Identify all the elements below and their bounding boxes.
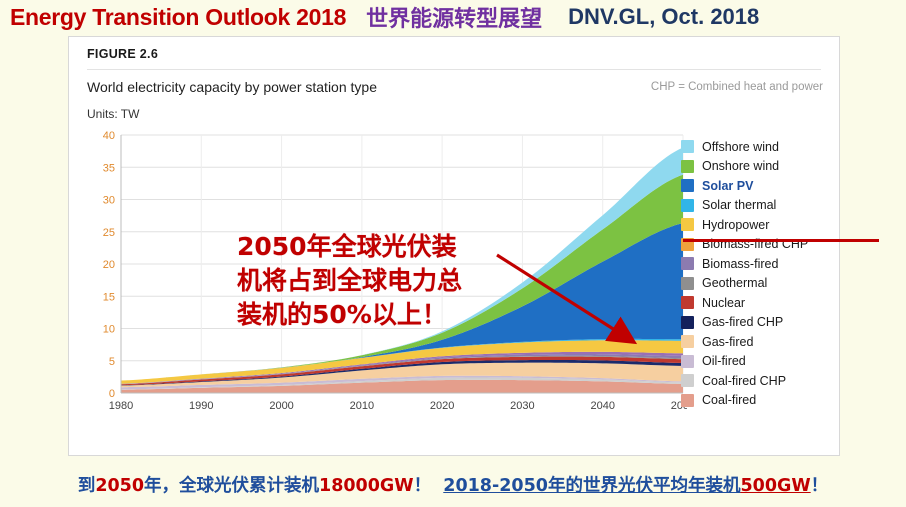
footer-part-9: ！ (811, 476, 829, 496)
svg-text:1980: 1980 (109, 400, 133, 412)
legend-swatch-icon (681, 355, 694, 368)
legend-swatch-icon (681, 218, 694, 231)
legend-swatch-icon (681, 335, 694, 348)
legend-highlight-underline (683, 239, 879, 242)
legend-swatch-icon (681, 374, 694, 387)
svg-text:30: 30 (103, 195, 115, 207)
svg-text:0: 0 (109, 388, 115, 400)
chart-annotation-text: 2050年全球光伏装 机将占到全球电力总 装机的50%以上！ (237, 230, 527, 332)
svg-text:5: 5 (109, 356, 115, 368)
footer-part-2: 2050 (95, 476, 144, 496)
legend-item: Solar thermal (681, 196, 881, 216)
svg-text:1990: 1990 (189, 400, 213, 412)
footer-part-1: 到 (78, 476, 96, 496)
svg-text:20: 20 (103, 259, 115, 271)
legend-item: Oil-fired (681, 352, 881, 372)
legend-item-label: Onshore wind (702, 159, 779, 173)
legend-item: Geothermal (681, 274, 881, 294)
legend-item-label: Gas-fired (702, 335, 753, 349)
svg-text:15: 15 (103, 291, 115, 303)
presentation-title-en: Energy Transition Outlook 2018 (10, 4, 346, 31)
legend-item-label: Solar PV (702, 179, 753, 193)
legend-item-label: Oil-fired (702, 354, 746, 368)
annotation-arrow-icon (489, 247, 669, 357)
legend-item: Onshore wind (681, 157, 881, 177)
presentation-title-cn: 世界能源转型展望 (366, 1, 542, 33)
figure-divider (87, 69, 821, 70)
svg-text:2000: 2000 (269, 400, 293, 412)
figure-label: FIGURE 2.6 (87, 47, 158, 61)
legend-item: Hydropower (681, 215, 881, 235)
legend-swatch-icon (681, 316, 694, 329)
legend-swatch-icon (681, 394, 694, 407)
legend-item-label: Biomass-fired (702, 257, 778, 271)
figure-card: FIGURE 2.6 World electricity capacity by… (68, 36, 840, 456)
legend-item-label: Offshore wind (702, 140, 779, 154)
legend-swatch-icon (681, 199, 694, 212)
figure-units: Units: TW (87, 107, 139, 121)
legend-item: Biomass-fired CHP (681, 235, 881, 255)
legend-swatch-icon (681, 296, 694, 309)
footer-part-4: 18000GW (319, 476, 414, 496)
legend-item-label: Hydropower (702, 218, 769, 232)
legend-item-label: Solar thermal (702, 198, 776, 212)
legend-item-label: Geothermal (702, 276, 767, 290)
legend-item: Gas-fired (681, 332, 881, 352)
legend-item-label: Gas-fired CHP (702, 315, 783, 329)
legend-swatch-icon (681, 179, 694, 192)
legend-item: Offshore wind (681, 137, 881, 157)
svg-text:2040: 2040 (590, 400, 614, 412)
legend-swatch-icon (681, 257, 694, 270)
legend-item: Coal-fired CHP (681, 371, 881, 391)
svg-text:2020: 2020 (430, 400, 454, 412)
legend-swatch-icon (681, 160, 694, 173)
legend-item: Nuclear (681, 293, 881, 313)
legend-item: Biomass-fired (681, 254, 881, 274)
bottom-banner: 到2050年，全球光伏累计装机18000GW！ 2018-2050年的世界光伏平… (0, 462, 906, 507)
legend-item-label: Coal-fired CHP (702, 374, 786, 388)
footer-part-3: 年，全球光伏累计装机 (144, 476, 319, 496)
legend-swatch-icon (681, 277, 694, 290)
annotation-line-2: 机将占到全球电力总 (237, 264, 527, 298)
figure-note: CHP = Combined heat and power (651, 81, 823, 93)
top-banner: Energy Transition Outlook 2018 世界能源转型展望 … (0, 0, 906, 34)
footer-part-8: 500GW (740, 476, 810, 496)
svg-text:2010: 2010 (350, 400, 374, 412)
figure-title: World electricity capacity by power stat… (87, 79, 377, 95)
footer-part-7: 2018-2050年的世界光伏平均年装机 (443, 476, 740, 496)
svg-text:25: 25 (103, 227, 115, 239)
svg-text:35: 35 (103, 162, 115, 174)
annotation-line-1: 2050年全球光伏装 (237, 230, 527, 264)
legend-item: Solar PV (681, 176, 881, 196)
footer-text: 到2050年，全球光伏累计装机18000GW！ 2018-2050年的世界光伏平… (78, 472, 828, 497)
svg-text:2030: 2030 (510, 400, 534, 412)
chart-legend: Offshore windOnshore windSolar PVSolar t… (681, 137, 881, 410)
legend-swatch-icon (681, 140, 694, 153)
presentation-source: DNV.GL, Oct. 2018 (568, 4, 759, 30)
footer-part-5: ！ (414, 476, 432, 496)
legend-item-label: Nuclear (702, 296, 745, 310)
legend-item: Coal-fired (681, 391, 881, 411)
svg-text:40: 40 (103, 130, 115, 142)
legend-item: Gas-fired CHP (681, 313, 881, 333)
legend-item-label: Coal-fired (702, 393, 756, 407)
svg-text:10: 10 (103, 324, 115, 336)
annotation-line-3: 装机的50%以上！ (237, 298, 527, 332)
